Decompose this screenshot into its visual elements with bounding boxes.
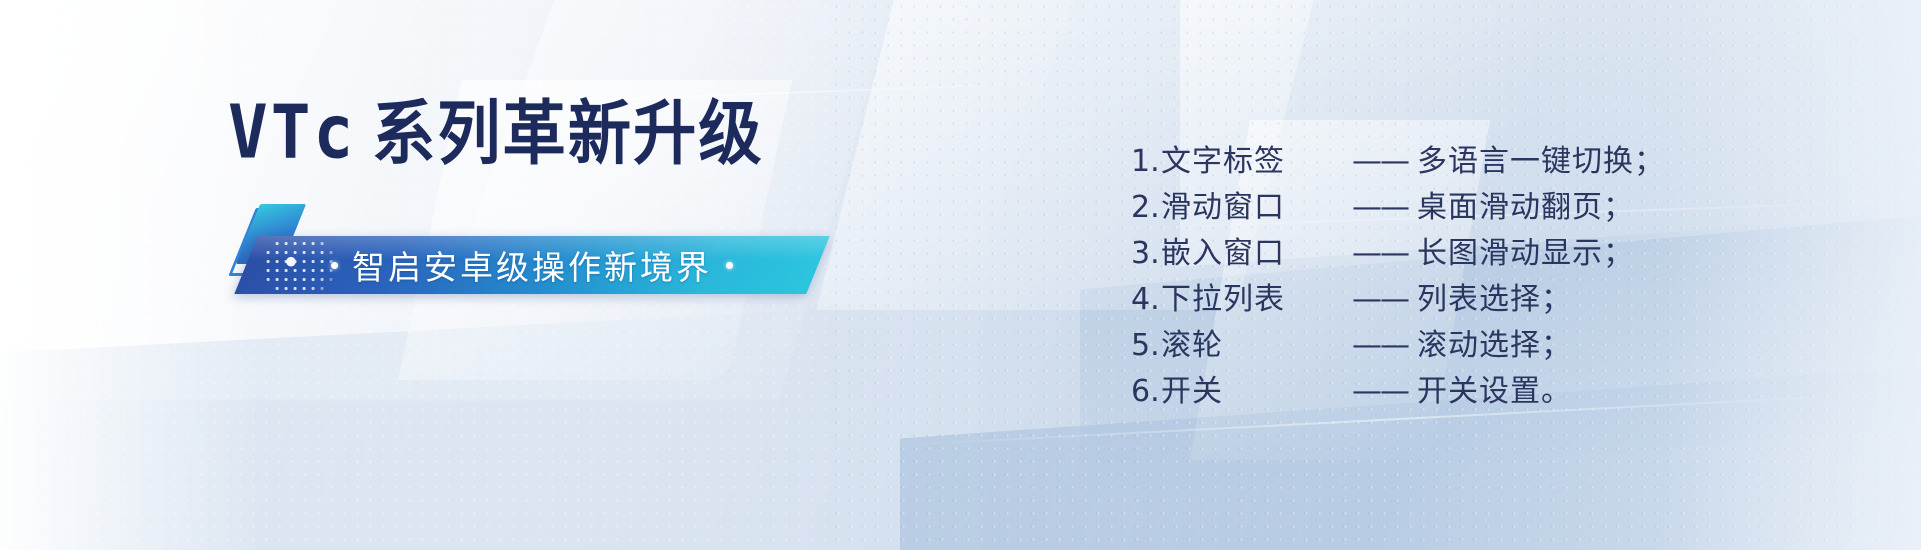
list-item-label: 开关 bbox=[1161, 369, 1343, 415]
list-item-desc: 长图滑动显示； bbox=[1417, 231, 1634, 277]
list-item: 5. 滚轮 —— 滚动选择； bbox=[1131, 323, 1665, 369]
headline-block: VTc 系列革新升级 智启安卓级操作新境界 bbox=[228, 104, 868, 170]
bullet-dot-left-icon bbox=[331, 262, 338, 269]
list-item-number: 4. bbox=[1131, 277, 1161, 323]
bg-left-fade bbox=[0, 0, 260, 550]
list-item-label: 嵌入窗口 bbox=[1161, 231, 1343, 277]
bg-panel-6 bbox=[0, 301, 980, 550]
list-item-number: 6. bbox=[1131, 369, 1161, 415]
list-item-number: 2. bbox=[1131, 185, 1161, 231]
list-item: 6. 开关 —— 开关设置。 bbox=[1131, 369, 1665, 415]
subtitle-text: 智启安卓级操作新境界 bbox=[352, 241, 712, 289]
list-item: 4. 下拉列表 —— 列表选择； bbox=[1131, 277, 1665, 323]
bg-panel-1 bbox=[0, 0, 940, 400]
promo-banner: VTc 系列革新升级 智启安卓级操作新境界 1. 文字标签 —— 多语言一键切换… bbox=[0, 0, 1921, 550]
list-item-label: 滑动窗口 bbox=[1161, 185, 1343, 231]
list-item-desc: 桌面滑动翻页； bbox=[1417, 185, 1634, 231]
list-item: 2. 滑动窗口 —— 桌面滑动翻页； bbox=[1131, 185, 1665, 231]
list-item-number: 5. bbox=[1131, 323, 1161, 369]
list-item-desc: 开关设置。 bbox=[1417, 369, 1572, 415]
list-item-label: 滚轮 bbox=[1161, 323, 1343, 369]
list-item-desc: 列表选择； bbox=[1417, 277, 1572, 323]
list-item: 3. 嵌入窗口 —— 长图滑动显示； bbox=[1131, 231, 1665, 277]
list-item-dash: —— bbox=[1343, 323, 1417, 369]
list-item-dash: —— bbox=[1343, 139, 1417, 185]
list-item: 1. 文字标签 —— 多语言一键切换； bbox=[1131, 139, 1665, 185]
list-item-desc: 多语言一键切换； bbox=[1417, 139, 1665, 185]
bg-right-fade bbox=[1660, 0, 1921, 550]
bullet-dot-right-icon bbox=[726, 262, 733, 269]
list-item-number: 1. bbox=[1131, 139, 1161, 185]
subtitle-band-content: 智启安卓级操作新境界 bbox=[246, 236, 818, 294]
title-cjk: 系列革新升级 bbox=[372, 99, 764, 169]
list-item-dash: —— bbox=[1343, 277, 1417, 323]
title-latin: VTc bbox=[228, 96, 356, 170]
list-item-label: 文字标签 bbox=[1161, 139, 1343, 185]
page-title: VTc 系列革新升级 bbox=[228, 104, 868, 170]
list-item-dash: —— bbox=[1343, 231, 1417, 277]
feature-list: 1. 文字标签 —— 多语言一键切换； 2. 滑动窗口 —— 桌面滑动翻页； 3… bbox=[1131, 139, 1665, 415]
list-item-desc: 滚动选择； bbox=[1417, 323, 1572, 369]
list-item-number: 3. bbox=[1131, 231, 1161, 277]
list-item-dash: —— bbox=[1343, 185, 1417, 231]
list-item-dash: —— bbox=[1343, 369, 1417, 415]
list-item-label: 下拉列表 bbox=[1161, 277, 1343, 323]
